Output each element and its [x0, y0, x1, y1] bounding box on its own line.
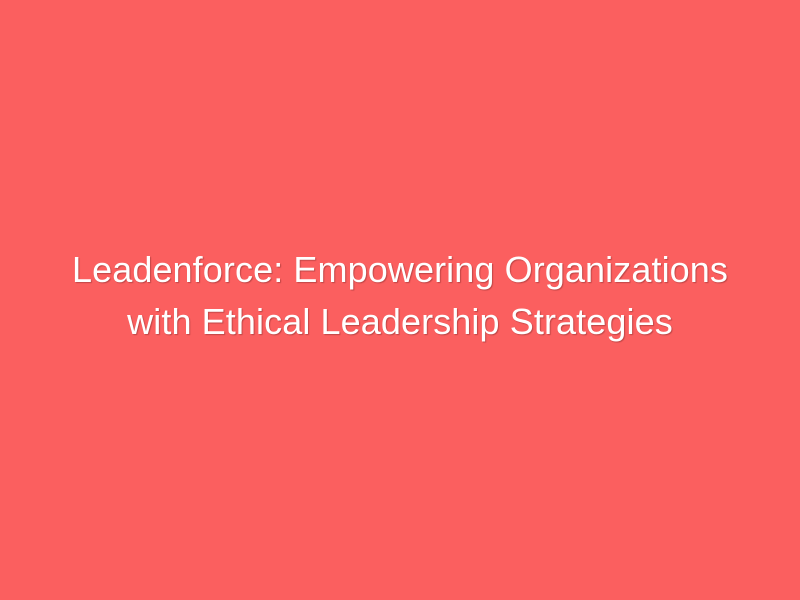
page-title: Leadenforce: Empowering Organizations wi… [60, 244, 740, 348]
headline-block: Leadenforce: Empowering Organizations wi… [50, 244, 750, 348]
title-card: Leadenforce: Empowering Organizations wi… [0, 0, 800, 600]
